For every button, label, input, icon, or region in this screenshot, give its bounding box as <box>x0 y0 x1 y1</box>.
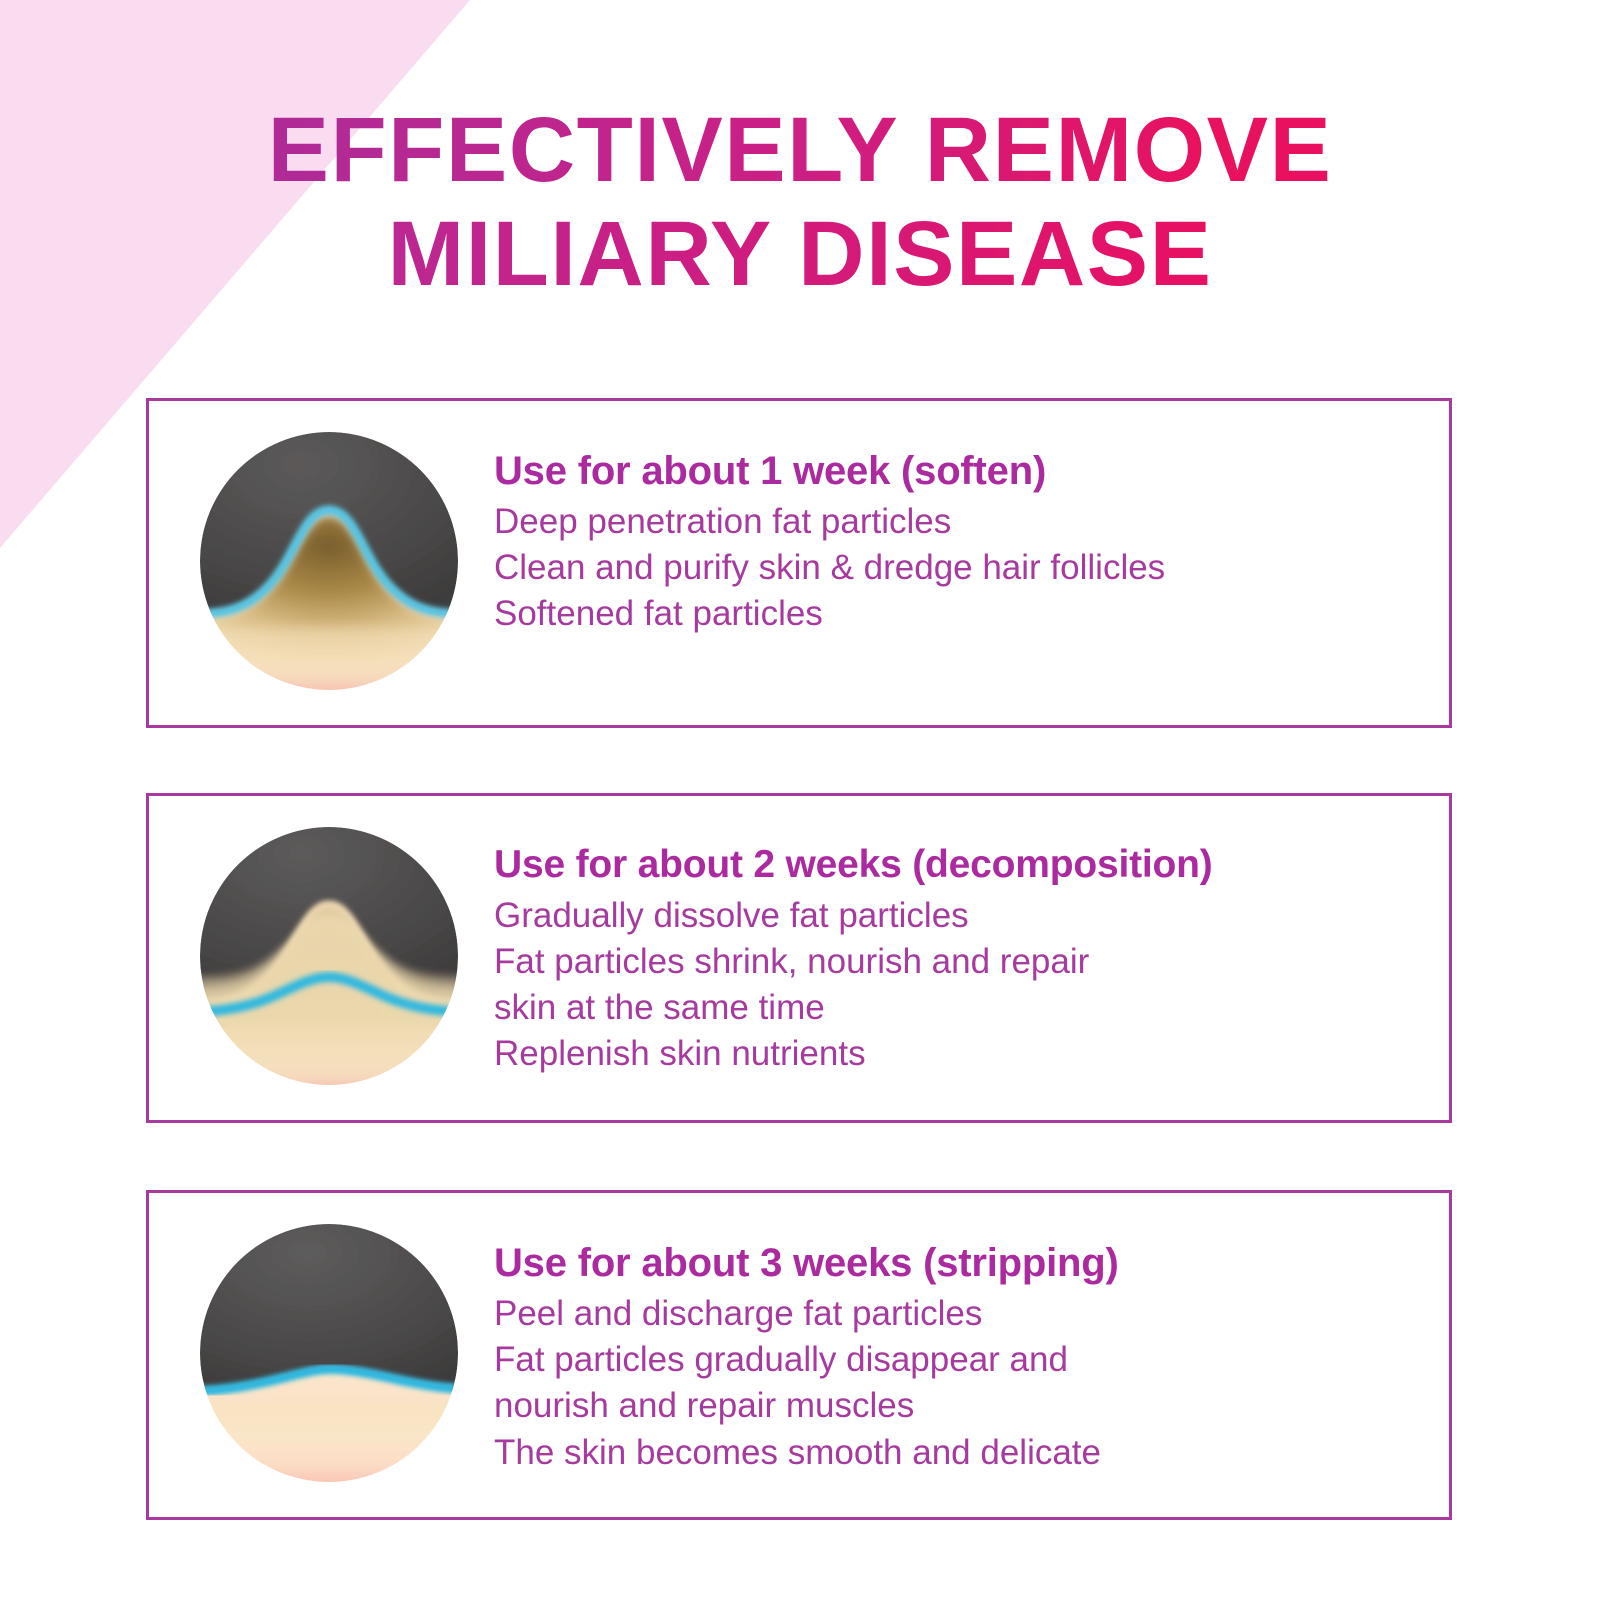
step-card-3: Use for about 3 weeks (stripping) Peel a… <box>146 1190 1452 1520</box>
title-line-2: MILIARY DISEASE <box>0 208 1600 302</box>
step-card-2-line-3: skin at the same time <box>494 985 1429 1031</box>
step-card-1-line-3: Softened fat particles <box>494 591 1429 637</box>
step-card-3-line-3: nourish and repair muscles <box>494 1383 1429 1429</box>
infographic-poster: EFFECTIVELY REMOVE MILIARY DISEASE <box>0 0 1600 1600</box>
step-card-2-heading: Use for about 2 weeks (decomposition) <box>494 844 1429 887</box>
skin-cross-section-stage-3-illustration <box>200 1224 458 1482</box>
step-card-3-heading: Use for about 3 weeks (stripping) <box>494 1241 1429 1285</box>
step-card-1-line-1: Deep penetration fat particles <box>494 499 1429 545</box>
step-card-3-line-2: Fat particles gradually disappear and <box>494 1337 1429 1383</box>
title-line-1: EFFECTIVELY REMOVE <box>0 104 1600 198</box>
skin-cross-section-stage-2-illustration <box>200 827 458 1085</box>
step-card-2-line-4: Replenish skin nutrients <box>494 1031 1429 1077</box>
step-card-3-line-4: The skin becomes smooth and delicate <box>494 1430 1429 1476</box>
step-card-2-line-1: Gradually dissolve fat particles <box>494 893 1429 939</box>
step-card-1-line-2: Clean and purify skin & dredge hair foll… <box>494 545 1429 591</box>
step-card-1: Use for about 1 week (soften) Deep penet… <box>146 398 1452 728</box>
page-title: EFFECTIVELY REMOVE MILIARY DISEASE <box>0 104 1600 302</box>
step-card-3-line-1: Peel and discharge fat particles <box>494 1291 1429 1337</box>
skin-cross-section-stage-1-illustration <box>200 432 458 690</box>
step-card-1-heading: Use for about 1 week (soften) <box>494 449 1429 493</box>
step-card-2-line-2: Fat particles shrink, nourish and repair <box>494 939 1429 985</box>
step-card-2: Use for about 2 weeks (decomposition) Gr… <box>146 793 1452 1123</box>
step-card-1-text: Use for about 1 week (soften) Deep penet… <box>494 449 1429 638</box>
step-card-3-text: Use for about 3 weeks (stripping) Peel a… <box>494 1241 1429 1476</box>
step-card-2-text: Use for about 2 weeks (decomposition) Gr… <box>494 844 1429 1078</box>
